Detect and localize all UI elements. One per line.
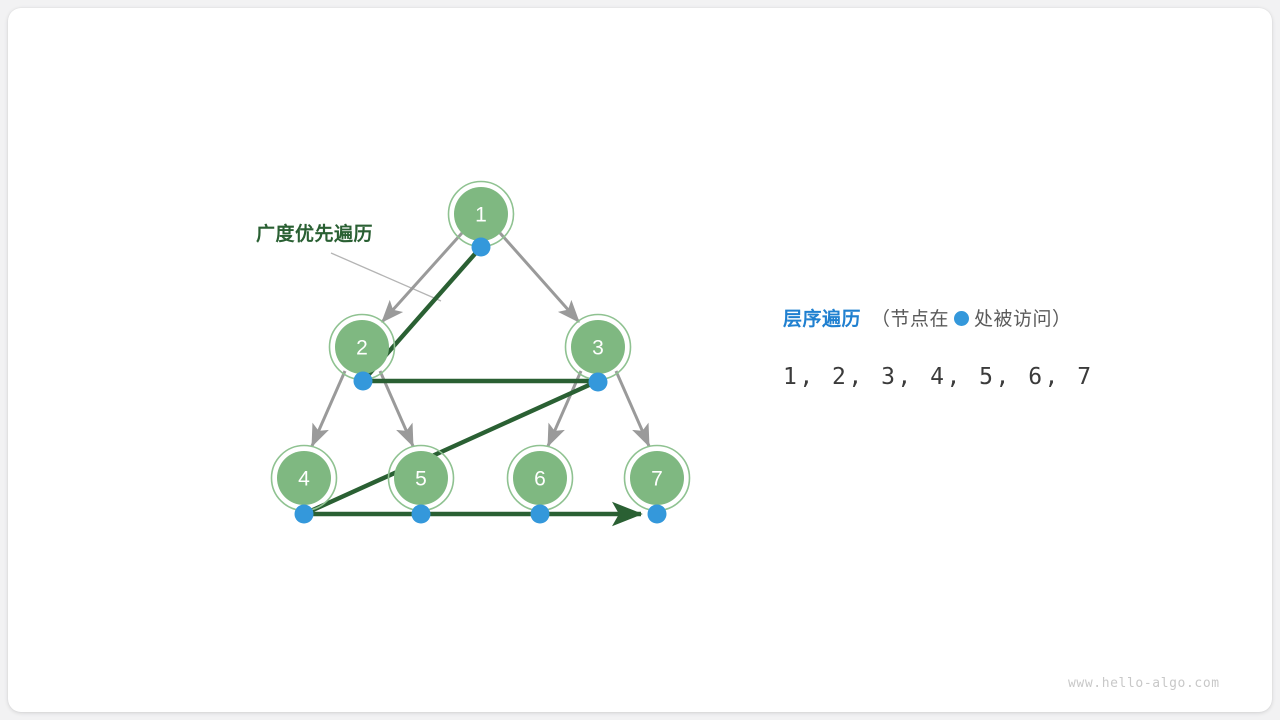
- tree-node-7[interactable]: 7: [625, 446, 690, 511]
- edge-1-3: [500, 233, 579, 322]
- tree-node-3-label: 3: [592, 337, 604, 360]
- edge-1-2: [382, 233, 462, 322]
- tree-node-2[interactable]: 2: [330, 315, 395, 380]
- watermark: www.hello-algo.com: [1068, 676, 1220, 691]
- tree-node-3[interactable]: 3: [566, 315, 631, 380]
- tree-node-5[interactable]: 5: [389, 446, 454, 511]
- visit-dot-icon-1[interactable]: [472, 238, 491, 257]
- tree-node-2-label: 2: [356, 337, 368, 360]
- legend-title: 层序遍历: [783, 304, 861, 331]
- visit-dot-icon-6[interactable]: [531, 505, 550, 524]
- legend-note-prefix: （节点在: [871, 304, 949, 331]
- tree-node-4[interactable]: 4: [272, 446, 337, 511]
- visit-dot-icon-4[interactable]: [295, 505, 314, 524]
- tree-node-6[interactable]: 6: [508, 446, 573, 511]
- tree-node-1[interactable]: 1: [449, 182, 514, 247]
- tree-node-6-label: 6: [534, 468, 546, 491]
- tree-node-7-label: 7: [651, 468, 663, 491]
- legend-note-suffix: 处被访问）: [974, 304, 1072, 331]
- bfs-annotation-label: 广度优先遍历: [256, 219, 373, 246]
- edge-3-7: [616, 371, 649, 446]
- tree-node-1-label: 1: [475, 204, 487, 227]
- diagram-stage: 1 2 3 4: [0, 0, 1280, 720]
- legend: 层序遍历 （节点在 处被访问）: [783, 304, 1072, 331]
- blue-visit-dot-icon: [954, 311, 969, 326]
- visit-dot-icon-7[interactable]: [648, 505, 667, 524]
- edge-2-4: [312, 371, 345, 446]
- traversal-sequence: 1, 2, 3, 4, 5, 6, 7: [783, 364, 1094, 390]
- visit-dot-icon-3[interactable]: [589, 373, 608, 392]
- diagram-root: 1 2 3 4: [0, 0, 1280, 720]
- visit-dot-icon-5[interactable]: [412, 505, 431, 524]
- tree-node-4-label: 4: [298, 468, 310, 491]
- legend-note: （节点在 处被访问）: [871, 304, 1072, 331]
- visit-dot-icon-2[interactable]: [354, 372, 373, 391]
- tree-node-5-label: 5: [415, 468, 427, 491]
- annotation-leader-line: [331, 253, 441, 301]
- tree-diagram-svg: 1 2 3 4: [0, 0, 1280, 720]
